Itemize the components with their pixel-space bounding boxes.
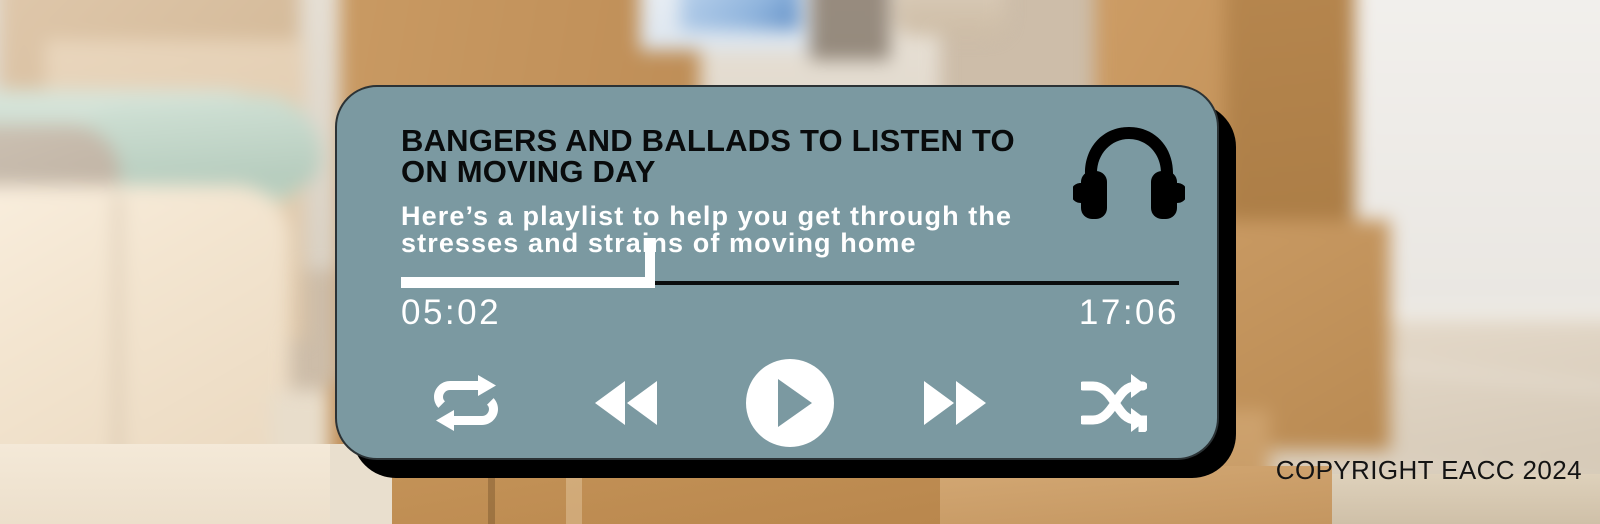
bg-sofa-seam	[115, 195, 121, 475]
fast-forward-button[interactable]	[916, 367, 994, 439]
player-controls	[401, 355, 1179, 450]
rewind-icon	[593, 379, 659, 427]
fg-left-floor	[0, 444, 330, 524]
rewind-button[interactable]	[587, 367, 665, 439]
bg-cardboard-box	[1225, 0, 1355, 240]
bg-framed-picture	[680, 0, 800, 30]
elapsed-time: 05:02	[401, 293, 501, 333]
total-time: 17:06	[1079, 293, 1179, 333]
headphones-icon	[1073, 121, 1185, 223]
fast-forward-icon	[922, 379, 988, 427]
bg-sofa	[0, 185, 290, 485]
bg-dark-gap	[810, 0, 890, 60]
time-row: 05:02 17:06	[401, 293, 1179, 333]
play-icon	[746, 359, 834, 447]
copyright-text: COPYRIGHT EACC 2024	[1276, 455, 1582, 486]
banner-stage: BANGERS AND BALLADS TO LISTEN TO ON MOVI…	[0, 0, 1600, 524]
seek-bar[interactable]	[401, 235, 1179, 285]
shuffle-button[interactable]	[1075, 367, 1153, 439]
seek-bar-progress	[401, 277, 650, 288]
bg-plant-pot	[895, 0, 1005, 35]
page-title: BANGERS AND BALLADS TO LISTEN TO ON MOVI…	[401, 125, 1066, 187]
play-button[interactable]	[746, 359, 834, 447]
shuffle-icon	[1081, 374, 1147, 432]
repeat-icon	[434, 375, 498, 431]
music-player-card: BANGERS AND BALLADS TO LISTEN TO ON MOVI…	[335, 85, 1219, 460]
seek-bar-playhead[interactable]	[645, 238, 655, 288]
repeat-button[interactable]	[427, 367, 505, 439]
